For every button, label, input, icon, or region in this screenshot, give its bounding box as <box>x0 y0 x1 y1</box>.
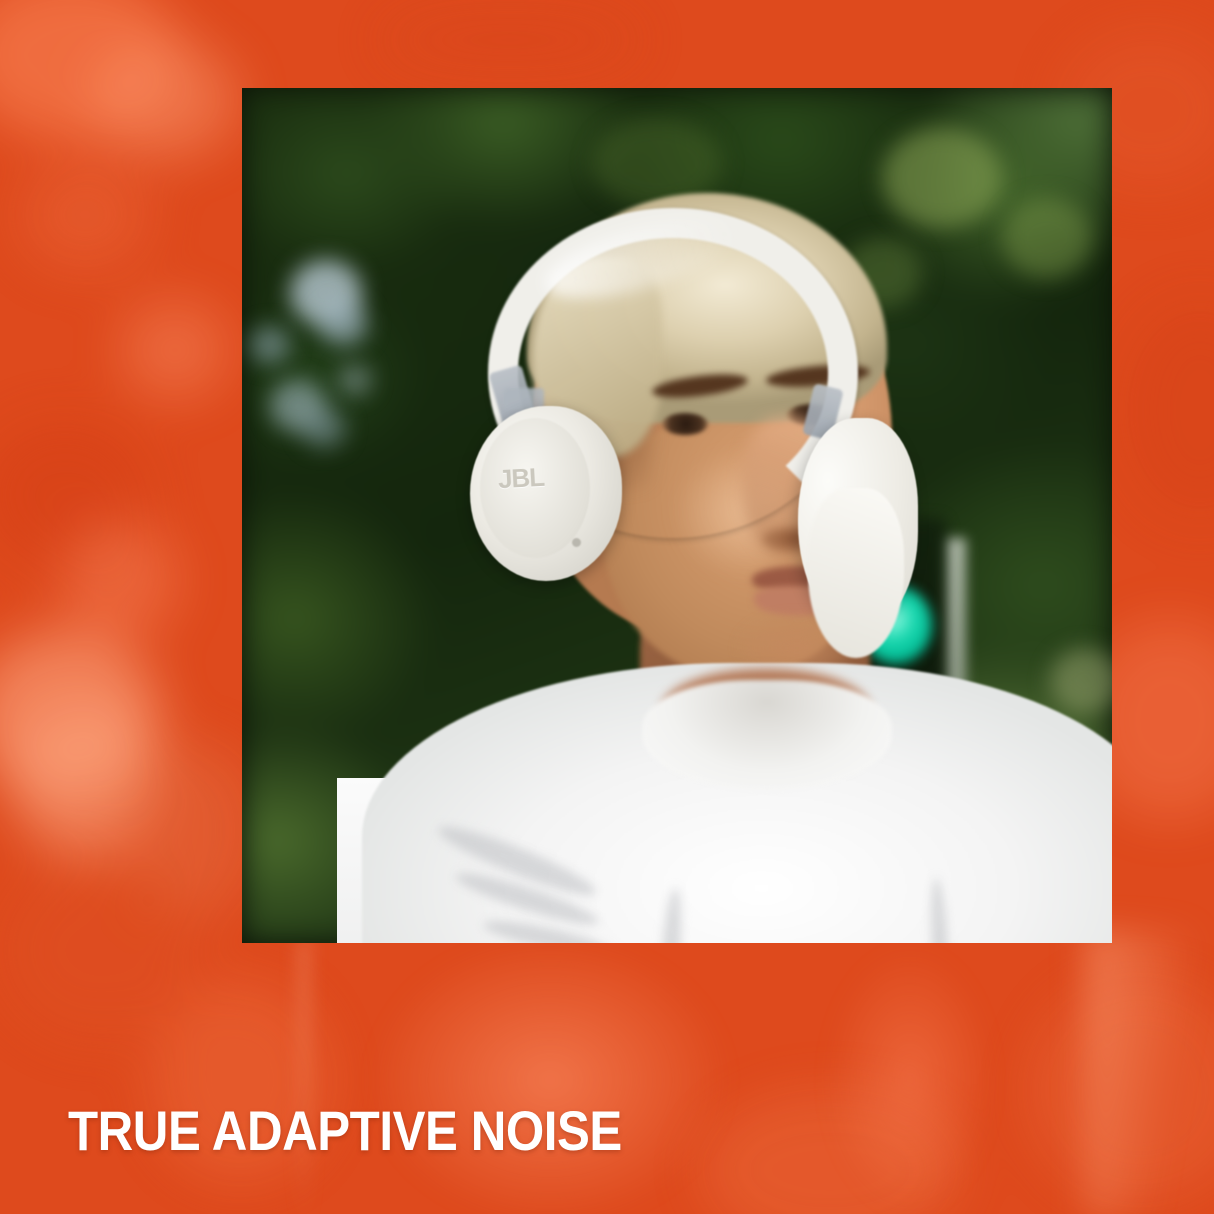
headphone-earcup-right-inner <box>808 488 904 658</box>
bokeh-blob <box>380 10 640 70</box>
tshirt-collar <box>642 680 892 790</box>
headphone-microphone-port <box>572 538 581 547</box>
bokeh-highlight <box>250 326 290 364</box>
bokeh-highlight <box>302 408 346 448</box>
bokeh-blob <box>90 40 240 160</box>
bokeh-blob <box>20 160 150 270</box>
bokeh-highlight <box>320 302 368 346</box>
marketing-image-canvas: JBL TRUE ADAPTIVE NOISE CANCELLING WITH … <box>0 0 1214 1214</box>
bokeh-highlight <box>882 128 1002 228</box>
feature-headline: TRUE ADAPTIVE NOISE CANCELLING WITH SMAR… <box>68 966 860 1214</box>
bokeh-highlight <box>1050 648 1112 714</box>
background-arm-silhouette <box>1085 930 1205 1214</box>
bokeh-blob <box>1120 300 1214 520</box>
bokeh-highlight <box>338 364 372 396</box>
jbl-logo: JBL <box>489 456 553 499</box>
lifestyle-photo: JBL <box>242 88 1112 943</box>
headline-line-1: TRUE ADAPTIVE NOISE <box>68 1098 860 1164</box>
bokeh-highlight <box>1002 198 1092 278</box>
bokeh-blob <box>120 300 230 400</box>
bokeh-blob <box>60 520 180 640</box>
